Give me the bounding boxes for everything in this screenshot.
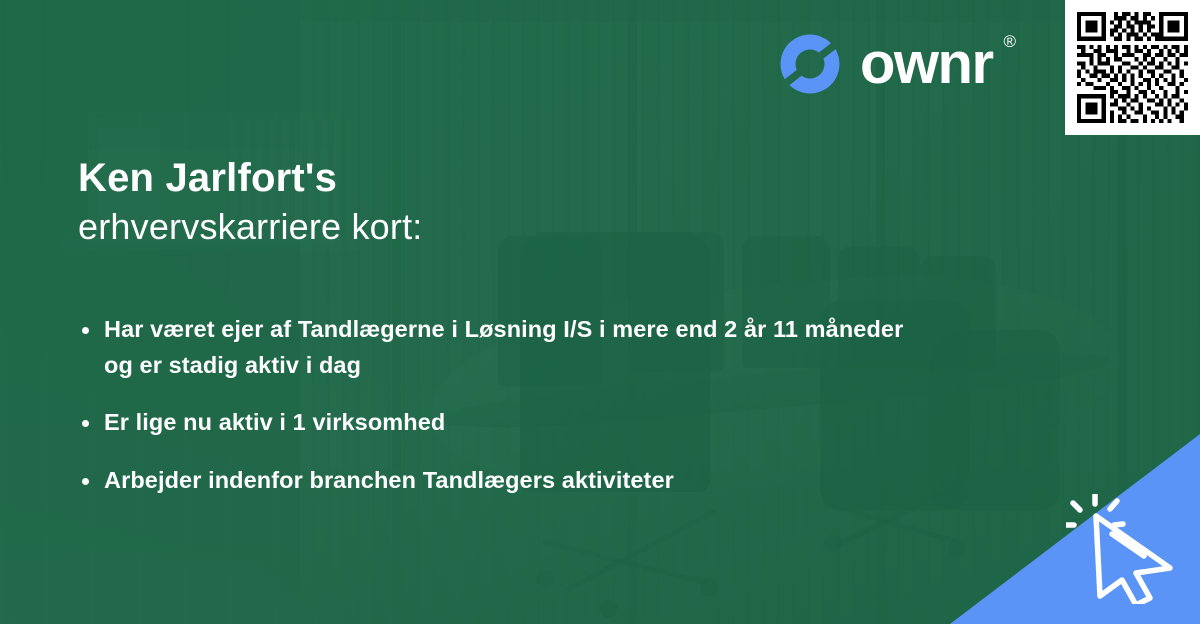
qr-code-panel[interactable] xyxy=(1065,0,1200,135)
list-item: Har været ejer af Tandlægerne i Løsning … xyxy=(78,312,908,383)
ownr-circle-mark xyxy=(778,32,842,96)
qr-code xyxy=(1073,8,1192,127)
title-line-2: erhvervskarriere kort: xyxy=(78,205,422,248)
list-item: Er lige nu aktiv i 1 virksomhed xyxy=(78,405,908,441)
career-card: ownr® xyxy=(0,0,1200,624)
ownr-logo[interactable]: ownr® xyxy=(778,32,993,96)
career-facts-list: Har været ejer af Tandlægerne i Løsning … xyxy=(78,312,908,521)
registered-trademark-icon: ® xyxy=(1004,33,1015,50)
title-line-1: Ken Jarlfort's xyxy=(78,155,422,201)
list-item: Arbejder indenfor branchen Tandlægers ak… xyxy=(78,463,908,499)
ownr-wordmark: ownr® xyxy=(860,35,993,93)
page-title: Ken Jarlfort's erhvervskarriere kort: xyxy=(78,155,422,249)
ownr-wordmark-text: ownr xyxy=(860,31,993,96)
click-cursor-icon xyxy=(1066,494,1184,604)
